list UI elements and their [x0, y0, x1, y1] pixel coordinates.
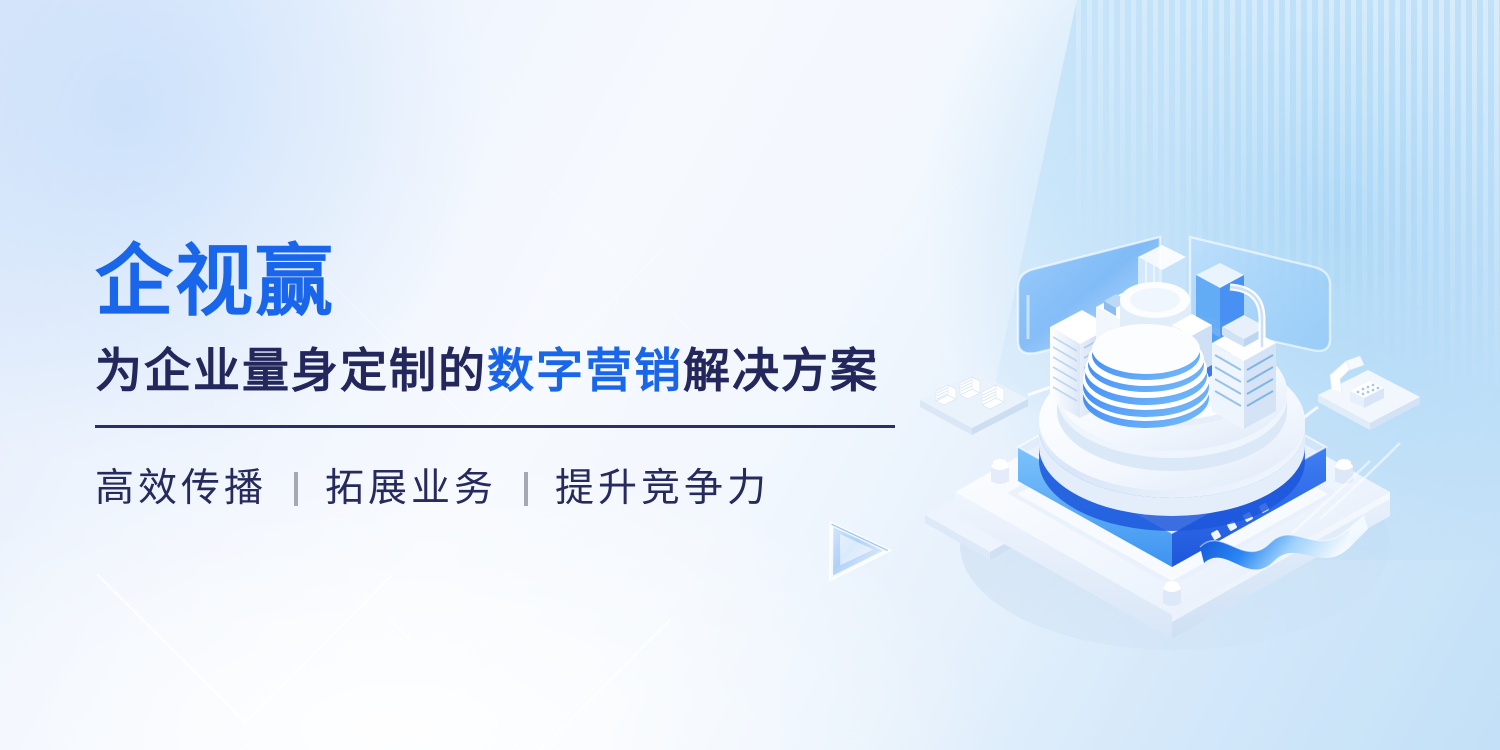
tagline-item-0: 高效传播 [95, 468, 267, 511]
tagline-item-1: 拓展业务 [325, 468, 497, 511]
glass-triangle [824, 517, 891, 579]
stacked-discs [1083, 324, 1209, 428]
hero-illustration [900, 215, 1460, 675]
marketing-banner: 企视赢 为企业量身定制的数字营销解决方案 高效传播 拓展业务 提升竞争力 [0, 0, 1500, 750]
banner-subtitle: 为企业量身定制的数字营销解决方案 [95, 346, 925, 397]
background-chevron-2 [389, 479, 672, 750]
divider-rule [95, 425, 895, 428]
tagline-separator-icon [294, 472, 298, 506]
subtitle-lead: 为企业量身定制的 [95, 344, 487, 397]
subtitle-trail: 解决方案 [683, 344, 879, 397]
tagline-item-2: 提升竞争力 [555, 468, 770, 511]
subtitle-highlight: 数字营销 [487, 344, 683, 397]
banner-text-block: 企视赢 为企业量身定制的数字营销解决方案 高效传播 拓展业务 提升竞争力 [95, 242, 925, 511]
tagline-separator-icon [524, 472, 528, 506]
banner-tagline: 高效传播 拓展业务 提升竞争力 [95, 468, 925, 511]
brand-title: 企视赢 [95, 242, 925, 320]
